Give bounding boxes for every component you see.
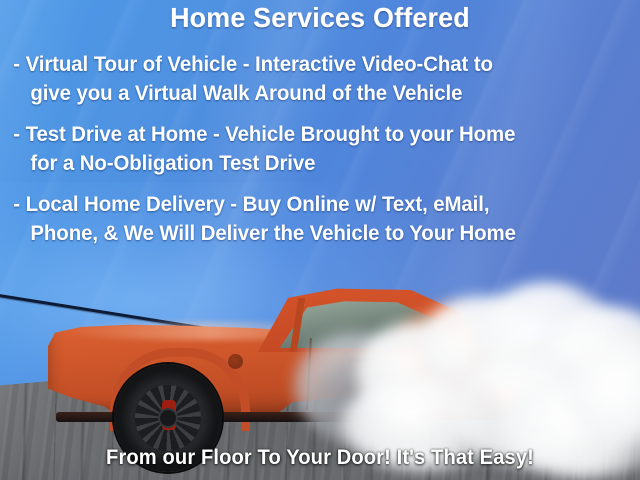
service-line-1: - Virtual Tour of Vehicle - Interactive … (13, 50, 608, 79)
car-fuel-cap-icon (432, 352, 448, 368)
car-wheel-hub (160, 410, 176, 426)
service-item-home-delivery: - Local Home Delivery - Buy Online w/ Te… (0, 190, 608, 248)
service-line-2: Phone, & We Will Deliver the Vehicle to … (13, 219, 608, 248)
service-line-1: - Local Home Delivery - Buy Online w/ Te… (13, 190, 608, 219)
service-line-1: - Test Drive at Home - Vehicle Brought t… (13, 120, 608, 149)
service-item-virtual-tour: - Virtual Tour of Vehicle - Interactive … (0, 50, 608, 108)
service-item-test-drive: - Test Drive at Home - Vehicle Brought t… (0, 120, 608, 178)
car-door-handle (348, 358, 372, 363)
home-services-poster: Home Services Offered - Virtual Tour of … (0, 0, 640, 480)
car-side-mirror (426, 336, 452, 353)
page-title: Home Services Offered (13, 2, 627, 34)
car-fender-badge-icon (228, 354, 243, 369)
service-line-2: for a No-Obligation Test Drive (13, 149, 608, 178)
services-list: - Virtual Tour of Vehicle - Interactive … (0, 50, 640, 260)
footer-tagline: From our Floor To Your Door! It's That E… (13, 446, 627, 470)
muscle-car-photo (48, 286, 518, 436)
service-line-2: give you a Virtual Walk Around of the Ve… (13, 79, 608, 108)
